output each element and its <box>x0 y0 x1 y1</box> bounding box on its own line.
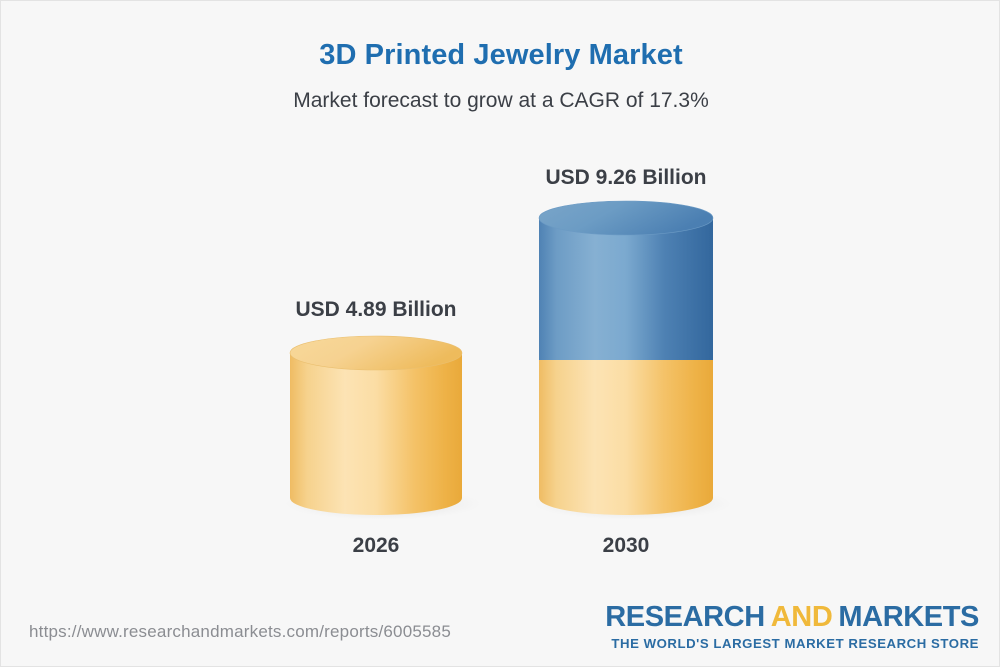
category-label-2030: 2030 <box>556 534 696 558</box>
source-url[interactable]: https://www.researchandmarkets.com/repor… <box>29 622 451 642</box>
logo-word-and: AND <box>771 601 833 633</box>
value-label-2026: USD 4.89 Billion <box>276 298 476 322</box>
logo-word-research: RESEARCH <box>605 601 765 633</box>
logo-wordmark: RESEARCHANDMARKETS <box>605 603 979 632</box>
value-label-2030: USD 9.26 Billion <box>526 166 726 190</box>
bar-2026[interactable] <box>285 336 481 520</box>
bar-2030[interactable] <box>534 201 732 520</box>
bar-2030-top-segment <box>539 218 713 360</box>
research-and-markets-logo[interactable]: RESEARCHANDMARKETS THE WORLD'S LARGEST M… <box>605 603 979 650</box>
logo-tagline: THE WORLD'S LARGEST MARKET RESEARCH STOR… <box>605 637 979 650</box>
chart-canvas: 3D Printed Jewelry Market Market forecas… <box>0 0 1000 667</box>
chart-plot-area <box>1 1 1000 667</box>
logo-word-markets: MARKETS <box>838 601 979 633</box>
bar-2026-top <box>290 336 462 370</box>
bar-2030-base-segment <box>539 359 713 515</box>
bar-2030-top <box>539 201 713 235</box>
category-label-2026: 2026 <box>306 534 446 558</box>
bar-2026-body <box>290 353 462 515</box>
